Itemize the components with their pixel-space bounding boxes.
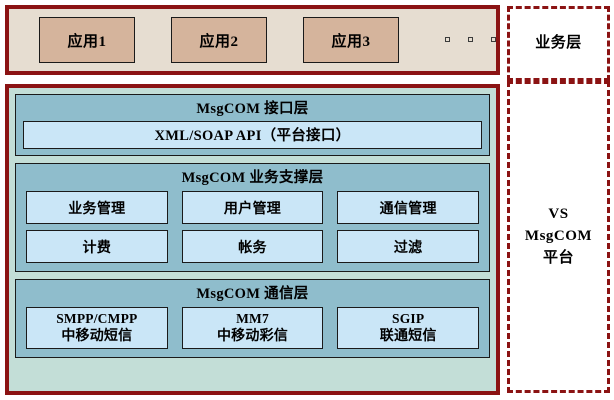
ellipsis-dot-1 [445, 37, 450, 42]
protocol-sgip-desc: 联通短信 [380, 328, 437, 346]
business-support-layer: MsgCOM 业务支撑层 业务管理 用户管理 通信管理 计费 帐务 [15, 163, 490, 272]
protocol-mm7-name: MM7 [236, 311, 269, 328]
module-service-management-label: 业务管理 [68, 198, 125, 218]
business-support-layer-title: MsgCOM 业务支撑层 [23, 168, 482, 190]
protocol-smpp-cmpp-name: SMPP/CMPP [56, 311, 137, 328]
business-layer-panel: 应用1 应用2 应用3 [5, 5, 500, 75]
platform-panel: MsgCOM 接口层 XML/SOAP API（平台接口） MsgCOM 业务支… [5, 84, 500, 395]
application-box-3[interactable]: 应用3 [303, 17, 399, 63]
module-communication-management-label: 通信管理 [380, 198, 437, 218]
protocol-smpp-cmpp[interactable]: SMPP/CMPP 中移动短信 [26, 307, 168, 349]
interface-layer: MsgCOM 接口层 XML/SOAP API（平台接口） [15, 94, 490, 156]
protocol-smpp-cmpp-desc: 中移动短信 [61, 328, 132, 346]
module-communication-management[interactable]: 通信管理 [337, 191, 479, 224]
platform-callout-line-1: VS [525, 204, 592, 226]
ellipsis-dot-2 [468, 37, 473, 42]
module-billing[interactable]: 计费 [26, 230, 168, 263]
communication-grid: SMPP/CMPP 中移动短信 MM7 中移动彩信 SGIP 联通短信 [23, 306, 482, 351]
module-service-management[interactable]: 业务管理 [26, 191, 168, 224]
ellipsis-icon [445, 37, 496, 44]
application-box-2-label: 应用2 [199, 30, 238, 51]
module-user-management[interactable]: 用户管理 [182, 191, 324, 224]
platform-callout: VS MsgCOM 平台 [507, 81, 610, 393]
module-user-management-label: 用户管理 [224, 198, 281, 218]
module-accounting-label: 帐务 [238, 237, 267, 257]
architecture-diagram: 应用1 应用2 应用3 MsgCOM 接口层 XML/SOAP API（平台接口… [0, 0, 614, 400]
application-box-1[interactable]: 应用1 [39, 17, 135, 63]
application-row: 应用1 应用2 应用3 [9, 9, 496, 71]
platform-callout-line-2: MsgCOM [525, 226, 592, 248]
communication-layer: MsgCOM 通信层 SMPP/CMPP 中移动短信 MM7 中移动彩信 SGI… [15, 279, 490, 358]
ellipsis-dot-3 [491, 37, 496, 42]
protocol-mm7-desc: 中移动彩信 [217, 328, 288, 346]
interface-layer-title: MsgCOM 接口层 [23, 99, 482, 121]
application-box-1-label: 应用1 [67, 30, 106, 51]
module-accounting[interactable]: 帐务 [182, 230, 324, 263]
protocol-sgip[interactable]: SGIP 联通短信 [337, 307, 479, 349]
platform-callout-text: VS MsgCOM 平台 [525, 204, 592, 269]
business-layer-callout: 业务层 [507, 6, 610, 81]
module-filtering[interactable]: 过滤 [337, 230, 479, 263]
protocol-sgip-name: SGIP [392, 311, 424, 328]
module-billing-label: 计费 [83, 237, 112, 257]
protocol-mm7[interactable]: MM7 中移动彩信 [182, 307, 324, 349]
xml-soap-api-bar[interactable]: XML/SOAP API（平台接口） [23, 121, 482, 149]
application-box-2[interactable]: 应用2 [171, 17, 267, 63]
platform-callout-line-3: 平台 [525, 248, 592, 270]
business-support-grid: 业务管理 用户管理 通信管理 计费 帐务 过滤 [23, 190, 482, 265]
module-filtering-label: 过滤 [394, 237, 423, 257]
application-box-3-label: 应用3 [331, 30, 370, 51]
business-layer-callout-label: 业务层 [535, 33, 582, 55]
communication-layer-title: MsgCOM 通信层 [23, 284, 482, 306]
